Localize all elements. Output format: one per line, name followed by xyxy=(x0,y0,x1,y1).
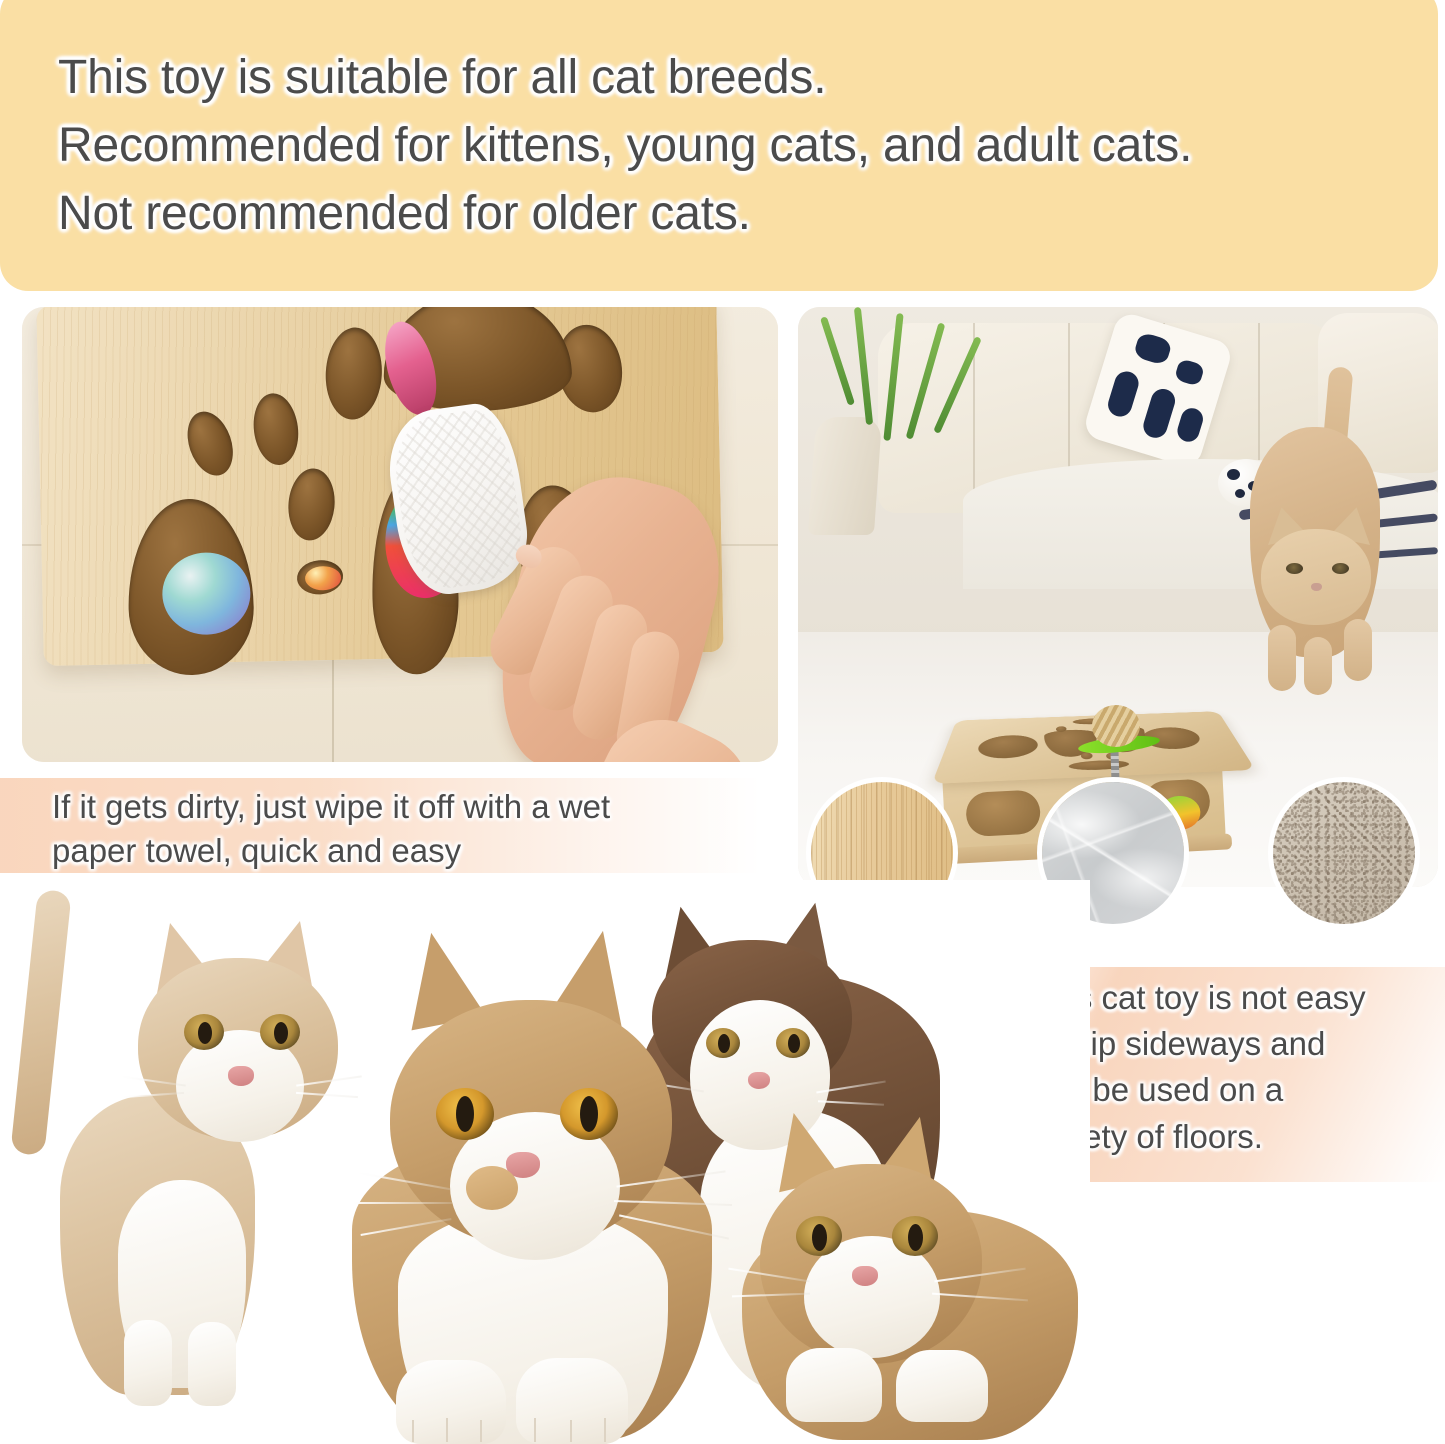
header-headline: This toy is suitable for all cat breeds.… xyxy=(58,44,1388,248)
kitten2-pupil-right xyxy=(580,1096,598,1132)
kitten3-pupil-right xyxy=(788,1034,800,1053)
kitten2-paw-right xyxy=(516,1358,628,1444)
kitten1-nose xyxy=(228,1066,254,1086)
kitten3-pupil-left xyxy=(718,1034,730,1053)
kitten2-cheek-patch xyxy=(466,1166,518,1210)
kitten1-pupil-right xyxy=(274,1022,288,1044)
caption-wipe-clean: If it gets dirty, just wipe it off with … xyxy=(0,778,760,873)
pillow-dot xyxy=(1140,386,1178,441)
kitten4-nose xyxy=(852,1266,878,1286)
paw-toe-hole-1 xyxy=(180,405,241,481)
toybox-top-dot xyxy=(1081,752,1093,759)
caption-floors-text: This cat toy is not easy to slip sideway… xyxy=(1030,975,1445,1160)
kitten2-toe-line xyxy=(412,1420,414,1442)
kitten3-nose xyxy=(748,1072,770,1089)
pillow-dot xyxy=(1174,358,1205,387)
kitten4-paw-left xyxy=(786,1348,882,1422)
toybox-top-hole xyxy=(975,734,1038,759)
kitten4-pupil-right xyxy=(908,1224,923,1251)
carpet-texture xyxy=(1273,782,1415,924)
kitten1-pupil-left xyxy=(198,1022,212,1044)
kitten4-paw-right xyxy=(896,1350,988,1422)
kitten1-tail xyxy=(10,889,72,1156)
kitten1-leg-right xyxy=(188,1322,236,1406)
cat-leg xyxy=(1304,637,1332,695)
cat-nose xyxy=(1311,583,1322,591)
kitten2-toe-line xyxy=(570,1420,572,1442)
photo-four-kittens xyxy=(0,880,1090,1444)
pillow-dot xyxy=(1175,405,1206,444)
kitten2-toe-line xyxy=(604,1418,606,1442)
toybox-top-slot xyxy=(1069,759,1130,771)
cat-leg xyxy=(1268,625,1296,691)
cat-head xyxy=(1261,529,1371,625)
spring-top-ball xyxy=(1092,705,1140,747)
kitten2-whisker xyxy=(352,1202,452,1204)
pillow-dot xyxy=(1133,331,1173,366)
caption-wipe-text: If it gets dirty, just wipe it off with … xyxy=(52,785,752,872)
photo-hand-wiping-toy xyxy=(22,307,778,762)
kitten4-pupil-left xyxy=(812,1224,827,1251)
plush-dot xyxy=(1227,469,1240,480)
cat-leg xyxy=(1344,619,1372,681)
paw-toe-hole-3 xyxy=(324,326,384,421)
kitten2-toe-line xyxy=(534,1418,536,1442)
plush-dot xyxy=(1235,489,1245,498)
carpet-floor-swatch xyxy=(1268,777,1420,929)
kitten2-toe-line xyxy=(480,1420,482,1442)
header-banner: This toy is suitable for all cat breeds.… xyxy=(0,0,1438,291)
hand xyxy=(454,425,754,762)
cat-eye-left xyxy=(1286,563,1303,574)
kitten2-toe-line xyxy=(446,1418,448,1442)
paw-toe-hole-4 xyxy=(286,467,338,543)
toybox-side-window xyxy=(965,789,1041,837)
kitten2-pupil-left xyxy=(456,1096,474,1132)
plant-vase xyxy=(808,417,882,535)
kitten1-leg-left xyxy=(124,1320,172,1406)
pillow-dot xyxy=(1105,369,1141,420)
cat-eye-right xyxy=(1332,563,1349,574)
paw-toe-hole-2 xyxy=(250,391,303,468)
